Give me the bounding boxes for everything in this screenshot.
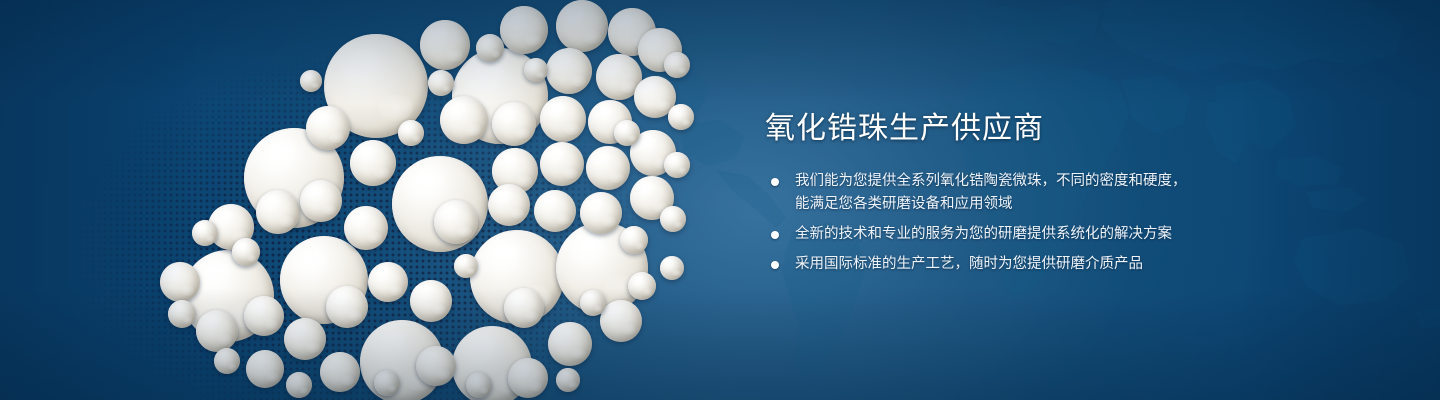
bullet-dot-icon (771, 261, 779, 269)
list-item-line: 我们能为您提供全系列氧化锆陶瓷微珠，不同的密度和硬度， (795, 170, 1235, 193)
bullet-dot-icon (771, 231, 779, 239)
hero-banner: 氧化锆珠生产供应商 我们能为您提供全系列氧化锆陶瓷微珠，不同的密度和硬度， 能满… (0, 0, 1440, 400)
list-item: 采用国际标准的生产工艺，随时为您提供研磨介质产品 (765, 253, 1235, 276)
feature-list: 我们能为您提供全系列氧化锆陶瓷微珠，不同的密度和硬度， 能满足您各类研磨设备和应… (765, 170, 1235, 283)
list-item: 全新的技术和专业的服务为您的研磨提供系统化的解决方案 (765, 223, 1235, 246)
banner-content: 氧化锆珠生产供应商 我们能为您提供全系列氧化锆陶瓷微珠，不同的密度和硬度， 能满… (765, 0, 1385, 400)
banner-title: 氧化锆珠生产供应商 (765, 110, 1044, 148)
list-item-line: 全新的技术和专业的服务为您的研磨提供系统化的解决方案 (795, 223, 1235, 246)
bullet-dot-icon (771, 178, 779, 186)
list-item-line: 采用国际标准的生产工艺，随时为您提供研磨介质产品 (795, 253, 1235, 276)
list-item-line: 能满足您各类研磨设备和应用领域 (795, 193, 1235, 216)
list-item: 我们能为您提供全系列氧化锆陶瓷微珠，不同的密度和硬度， 能满足您各类研磨设备和应… (765, 170, 1235, 216)
